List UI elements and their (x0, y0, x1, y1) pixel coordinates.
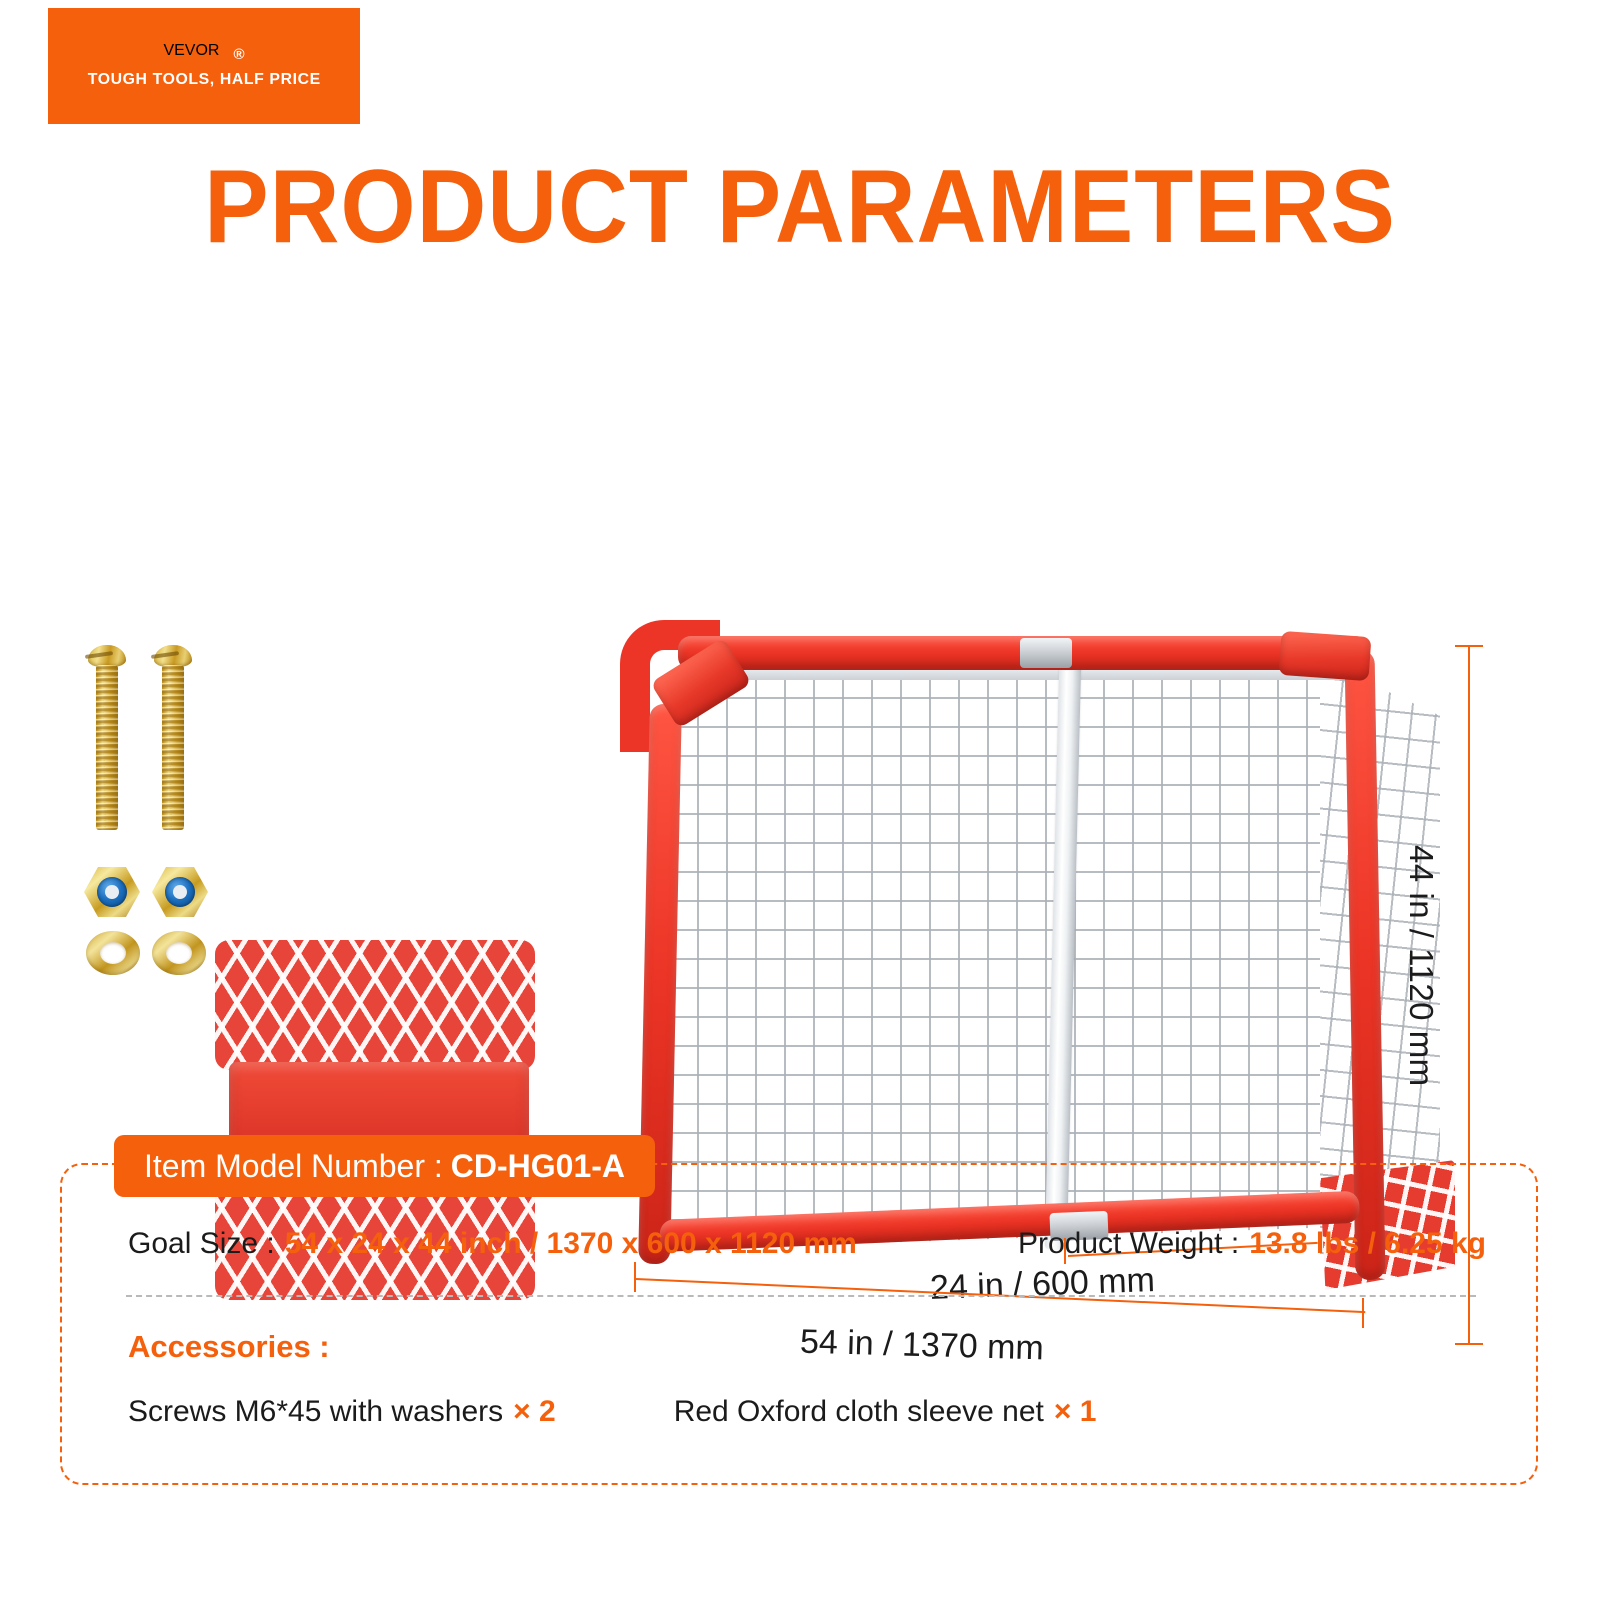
goal-front-net (668, 660, 1358, 1250)
spec-panel: Item Model Number : CD-HG01-A Goal Size … (60, 1163, 1538, 1485)
brand-tagline: TOUGH TOOLS, HALF PRICE (87, 71, 320, 89)
goal-size-label: Goal Size : (128, 1227, 275, 1261)
accessory-name: Screws M6*45 with washers (128, 1395, 503, 1429)
screw-head (154, 645, 192, 667)
height-dimension-cap-top (1455, 645, 1483, 647)
nut-hole (173, 885, 187, 899)
spec-row: Goal Size : 54 x 24 x 44 inch / 1370 x 6… (62, 1227, 1536, 1261)
accessory-quantity: × 2 (513, 1395, 556, 1429)
spec-divider (126, 1295, 1476, 1297)
accessory-quantity: × 1 (1054, 1395, 1097, 1429)
registered-trademark-icon: ® (233, 47, 244, 62)
product-weight-group: Product Weight : 13.8 lbs / 6.25 kg (1018, 1227, 1486, 1261)
model-number-label: Item Model Number : (144, 1148, 443, 1185)
accessories-row: Screws M6*45 with washers × 2 Red Oxford… (128, 1395, 1428, 1429)
product-weight-value: 13.8 lbs / 6.25 kg (1249, 1227, 1486, 1261)
brand-wordmark-row: VEVOR ® (163, 43, 244, 62)
brand-logo: VEVOR ® TOUGH TOOLS, HALF PRICE (48, 8, 360, 124)
lock-nut-icon (152, 867, 208, 917)
goal-right-corner-sleeve (1279, 631, 1372, 681)
product-image-stage: 44 in / 1120 mm 24 in / 600 mm 54 in / 1… (0, 300, 1600, 1100)
screw-slot (85, 651, 113, 659)
model-number-value: CD-HG01-A (451, 1148, 625, 1185)
goal-size-value: 54 x 24 x 44 inch / 1370 x 600 x 1120 mm (285, 1227, 857, 1261)
accessories-title: Accessories : (128, 1329, 330, 1365)
product-weight-label: Product Weight : (1018, 1227, 1239, 1261)
accessory-item: Red Oxford cloth sleeve net × 1 (674, 1395, 1097, 1429)
goal-top-connector (1020, 638, 1072, 668)
screw-shaft (96, 665, 118, 830)
height-dimension-label: 44 in / 1120 mm (1402, 845, 1440, 1165)
screw-slot (151, 651, 179, 659)
accessory-item: Screws M6*45 with washers × 2 (128, 1395, 556, 1429)
screw-head (88, 645, 126, 667)
brand-wordmark: VEVOR (163, 43, 219, 59)
nut-hole (105, 885, 119, 899)
screw-icon (162, 645, 184, 830)
page-title: PRODUCT PARAMETERS (56, 155, 1544, 259)
net-mesh-top (215, 940, 535, 1070)
screw-shaft (162, 665, 184, 830)
model-number-banner: Item Model Number : CD-HG01-A (114, 1135, 655, 1197)
washer-icon (86, 931, 140, 975)
lock-nut-icon (84, 867, 140, 917)
washer-icon (152, 931, 206, 975)
screw-icon (96, 645, 118, 830)
accessory-name: Red Oxford cloth sleeve net (674, 1395, 1044, 1429)
